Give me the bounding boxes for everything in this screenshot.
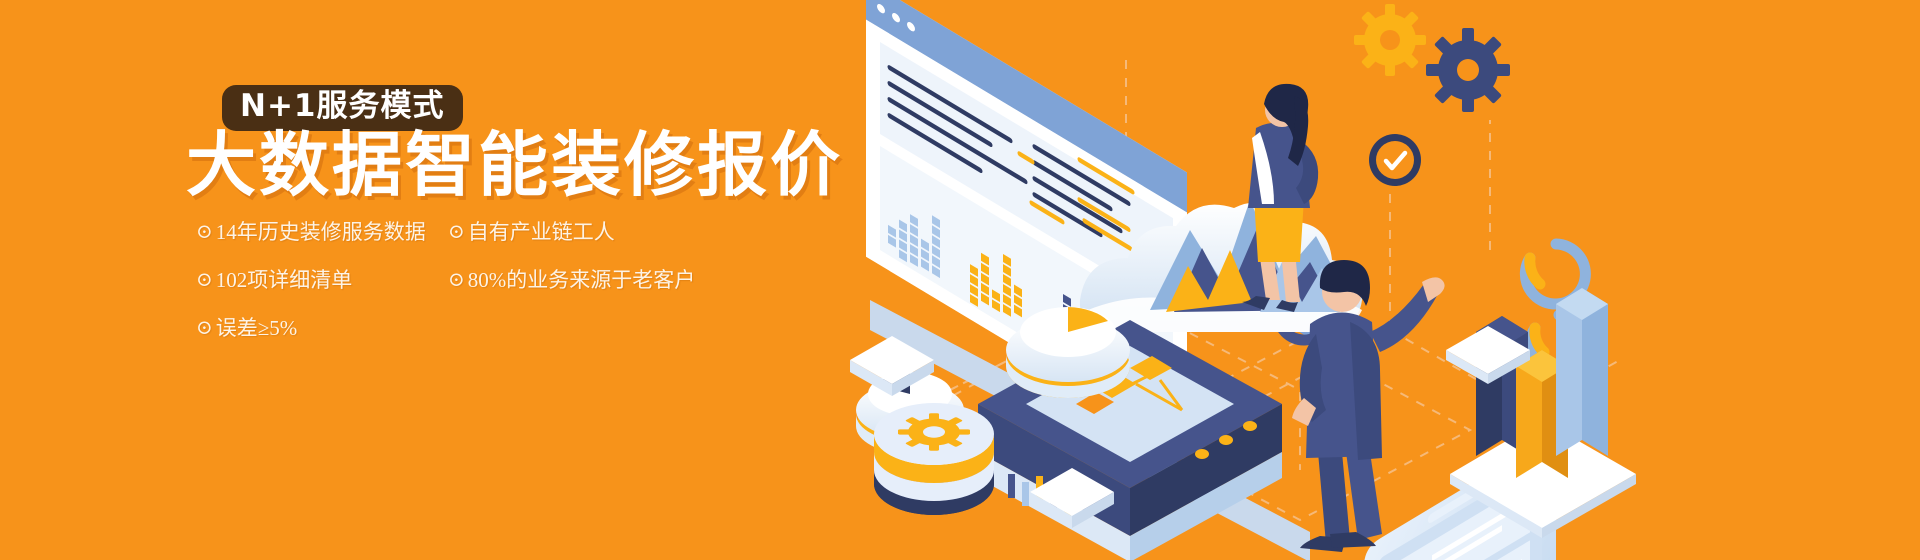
promo-banner: N+1服务模式 大数据智能装修报价 ⊙ 14年历史装修服务数据 ⊙ 102项详细… <box>0 0 1920 560</box>
list-item: ⊙ 误差≥5% <box>196 318 446 339</box>
list-item: ⊙ 80%的业务来源于老客户 <box>448 270 778 291</box>
list-item: ⊙ 自有产业链工人 <box>448 222 778 243</box>
stacked-cylinder-gear <box>874 403 994 515</box>
list-item-label: 80%的业务来源于老客户 <box>468 270 696 291</box>
banner-copy: N+1服务模式 大数据智能装修报价 ⊙ 14年历史装修服务数据 ⊙ 102项详细… <box>0 0 900 560</box>
feature-list-column-right: ⊙ 自有产业链工人 ⊙ 80%的业务来源于老客户 <box>448 222 778 318</box>
list-item-label: 102项详细清单 <box>216 270 353 291</box>
list-item-label: 误差≥5% <box>216 318 298 339</box>
list-item-label: 14年历史装修服务数据 <box>216 222 426 243</box>
feature-list-column-left: ⊙ 14年历史装修服务数据 ⊙ 102项详细清单 ⊙ 误差≥5% <box>196 222 446 366</box>
list-item: ⊙ 14年历史装修服务数据 <box>196 222 446 243</box>
circled-dot-icon: ⊙ <box>196 270 213 291</box>
gear-navy <box>1426 28 1510 112</box>
list-item-label: 自有产业链工人 <box>468 222 615 243</box>
gear-orange <box>1354 4 1426 76</box>
circled-dot-icon: ⊙ <box>448 270 465 291</box>
page-title: 大数据智能装修报价 <box>186 128 843 202</box>
circled-dot-icon: ⊙ <box>448 222 465 243</box>
list-item: ⊙ 102项详细清单 <box>196 270 446 291</box>
isometric-illustration <box>830 0 1920 560</box>
circled-dot-icon: ⊙ <box>196 222 213 243</box>
circled-dot-icon: ⊙ <box>196 318 213 339</box>
check-badge <box>1369 134 1421 186</box>
